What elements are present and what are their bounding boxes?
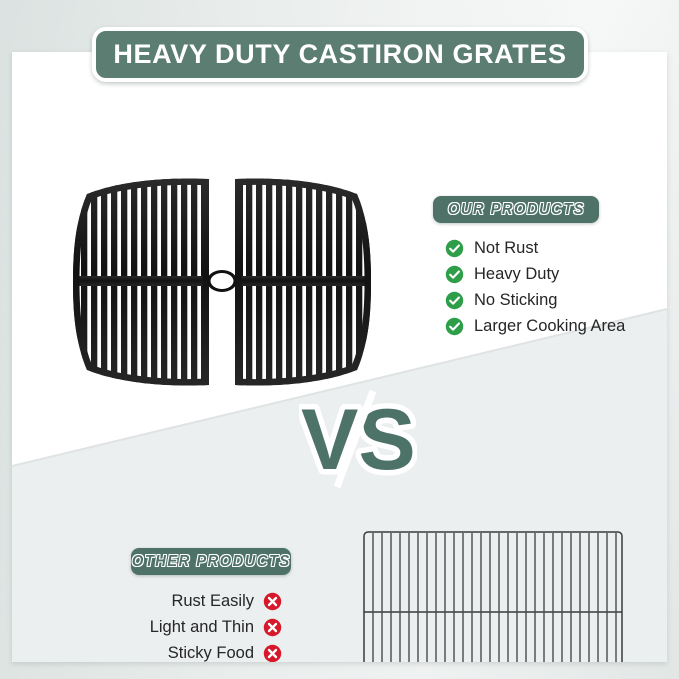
other-products-list: Rust Easily Light and Thin Sticky Food xyxy=(57,588,282,662)
list-item-label: Larger Cooking Area xyxy=(474,317,625,336)
list-item: Larger Cooking Area xyxy=(445,313,625,339)
list-item-label: Light and Thin xyxy=(150,618,254,637)
list-item-label: Rust Easily xyxy=(171,592,254,611)
check-circle-icon xyxy=(445,265,464,284)
list-item-label: Not Rust xyxy=(474,239,538,258)
list-item-label: Sticky Food xyxy=(168,644,254,663)
check-circle-icon xyxy=(445,291,464,310)
list-item: Light and Thin xyxy=(57,614,282,640)
list-item: Sticky Food xyxy=(57,640,282,662)
check-circle-icon xyxy=(445,317,464,336)
cast-iron-grate-image xyxy=(67,172,377,392)
other-products-badge: OTHER PRODUCTS xyxy=(131,548,291,575)
cross-circle-icon xyxy=(263,618,282,637)
content-card: OUR PRODUCTS Not Rust Heavy Duty xyxy=(12,52,667,662)
list-item: Not Rust xyxy=(445,235,625,261)
check-circle-icon xyxy=(445,239,464,258)
list-item-label: No Sticking xyxy=(474,291,557,310)
infographic-root: OUR PRODUCTS Not Rust Heavy Duty xyxy=(0,0,679,679)
other-products-badge-label: OTHER PRODUCTS xyxy=(132,553,291,571)
list-item: No Sticking xyxy=(445,287,625,313)
page-title: HEAVY DUTY CASTIRON GRATES xyxy=(113,39,566,70)
list-item-label: Heavy Duty xyxy=(474,265,559,284)
our-products-badge: OUR PRODUCTS xyxy=(433,196,599,223)
our-products-badge-label: OUR PRODUCTS xyxy=(447,201,584,219)
versus-label: VS xyxy=(301,392,416,488)
list-item: Rust Easily xyxy=(57,588,282,614)
thin-wire-grate-image xyxy=(357,524,629,662)
our-products-list: Not Rust Heavy Duty No Sticking xyxy=(445,235,625,339)
cross-circle-icon xyxy=(263,644,282,663)
cross-circle-icon xyxy=(263,592,282,611)
versus-mark: VS VS xyxy=(299,389,417,489)
page-title-badge: HEAVY DUTY CASTIRON GRATES xyxy=(92,27,588,82)
list-item: Heavy Duty xyxy=(445,261,625,287)
